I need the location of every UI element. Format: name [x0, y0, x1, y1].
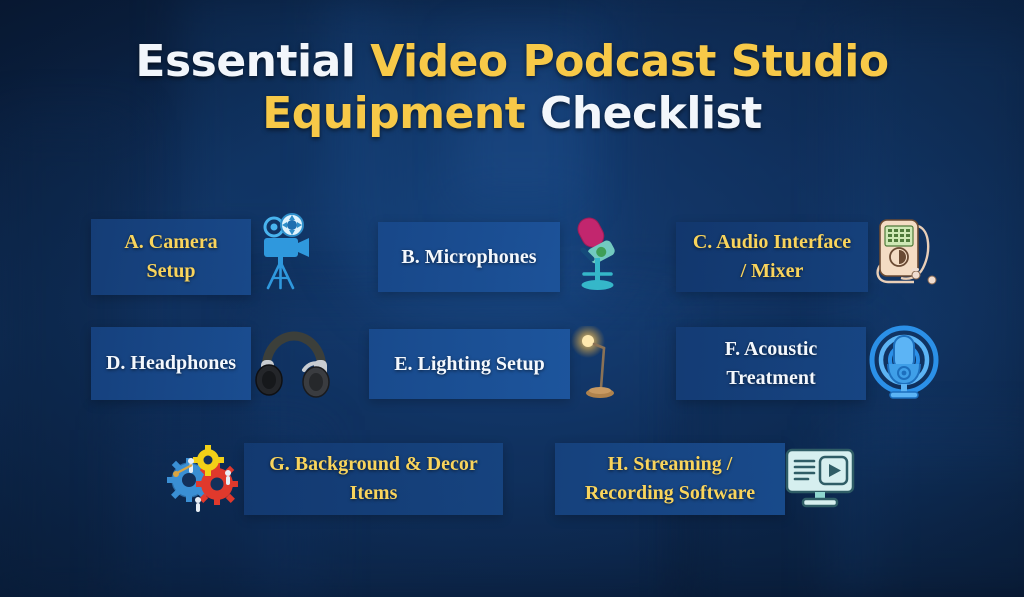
- checklist-item-h[interactable]: H. Streaming / Recording Software: [555, 443, 785, 515]
- checklist-item-b[interactable]: B. Microphones: [378, 222, 560, 292]
- checklist-item-f-label: F. Acoustic Treatment: [688, 335, 854, 393]
- page-title-segment-checklist: Checklist: [540, 88, 762, 139]
- checklist-item-a[interactable]: A. Camera Setup: [91, 219, 251, 295]
- podcast-mic-waves-icon: [866, 324, 942, 402]
- headphones-icon: [254, 330, 332, 398]
- audio-recorder-icon: [868, 212, 940, 294]
- page-title-segment-equipment: Equipment: [262, 88, 540, 139]
- checklist-item-e-label: E. Lighting Setup: [394, 350, 545, 379]
- checklist-item-c[interactable]: C. Audio Interface / Mixer: [676, 222, 868, 292]
- checklist-item-d-label: D. Headphones: [106, 349, 236, 378]
- checklist-item-b-label: B. Microphones: [401, 243, 536, 272]
- checklist-item-g-label: G. Background & Decor Items: [256, 450, 491, 508]
- page-title: Essential Video Podcast Studio Equipment…: [0, 36, 1024, 140]
- floor-lamp-icon: [566, 326, 628, 404]
- page-title-segment-essential: Essential: [135, 36, 370, 87]
- checklist-item-h-label: H. Streaming / Recording Software: [567, 450, 773, 508]
- gears-teamwork-icon: [165, 442, 241, 514]
- microphone-stand-icon: [566, 214, 628, 296]
- checklist-item-c-label: C. Audio Interface / Mixer: [688, 228, 856, 286]
- checklist-item-d[interactable]: D. Headphones: [91, 327, 251, 400]
- movie-camera-icon: [258, 212, 316, 290]
- monitor-play-icon: [784, 448, 856, 510]
- checklist-item-a-label: A. Camera Setup: [103, 228, 239, 286]
- checklist-item-g[interactable]: G. Background & Decor Items: [244, 443, 503, 515]
- checklist-item-e[interactable]: E. Lighting Setup: [369, 329, 570, 399]
- checklist-item-f[interactable]: F. Acoustic Treatment: [676, 327, 866, 400]
- page-title-line-2: Equipment Checklist: [0, 88, 1024, 140]
- page-title-segment-video-podcast-studio: Video Podcast Studio: [370, 36, 888, 87]
- page-title-line-1: Essential Video Podcast Studio: [0, 36, 1024, 88]
